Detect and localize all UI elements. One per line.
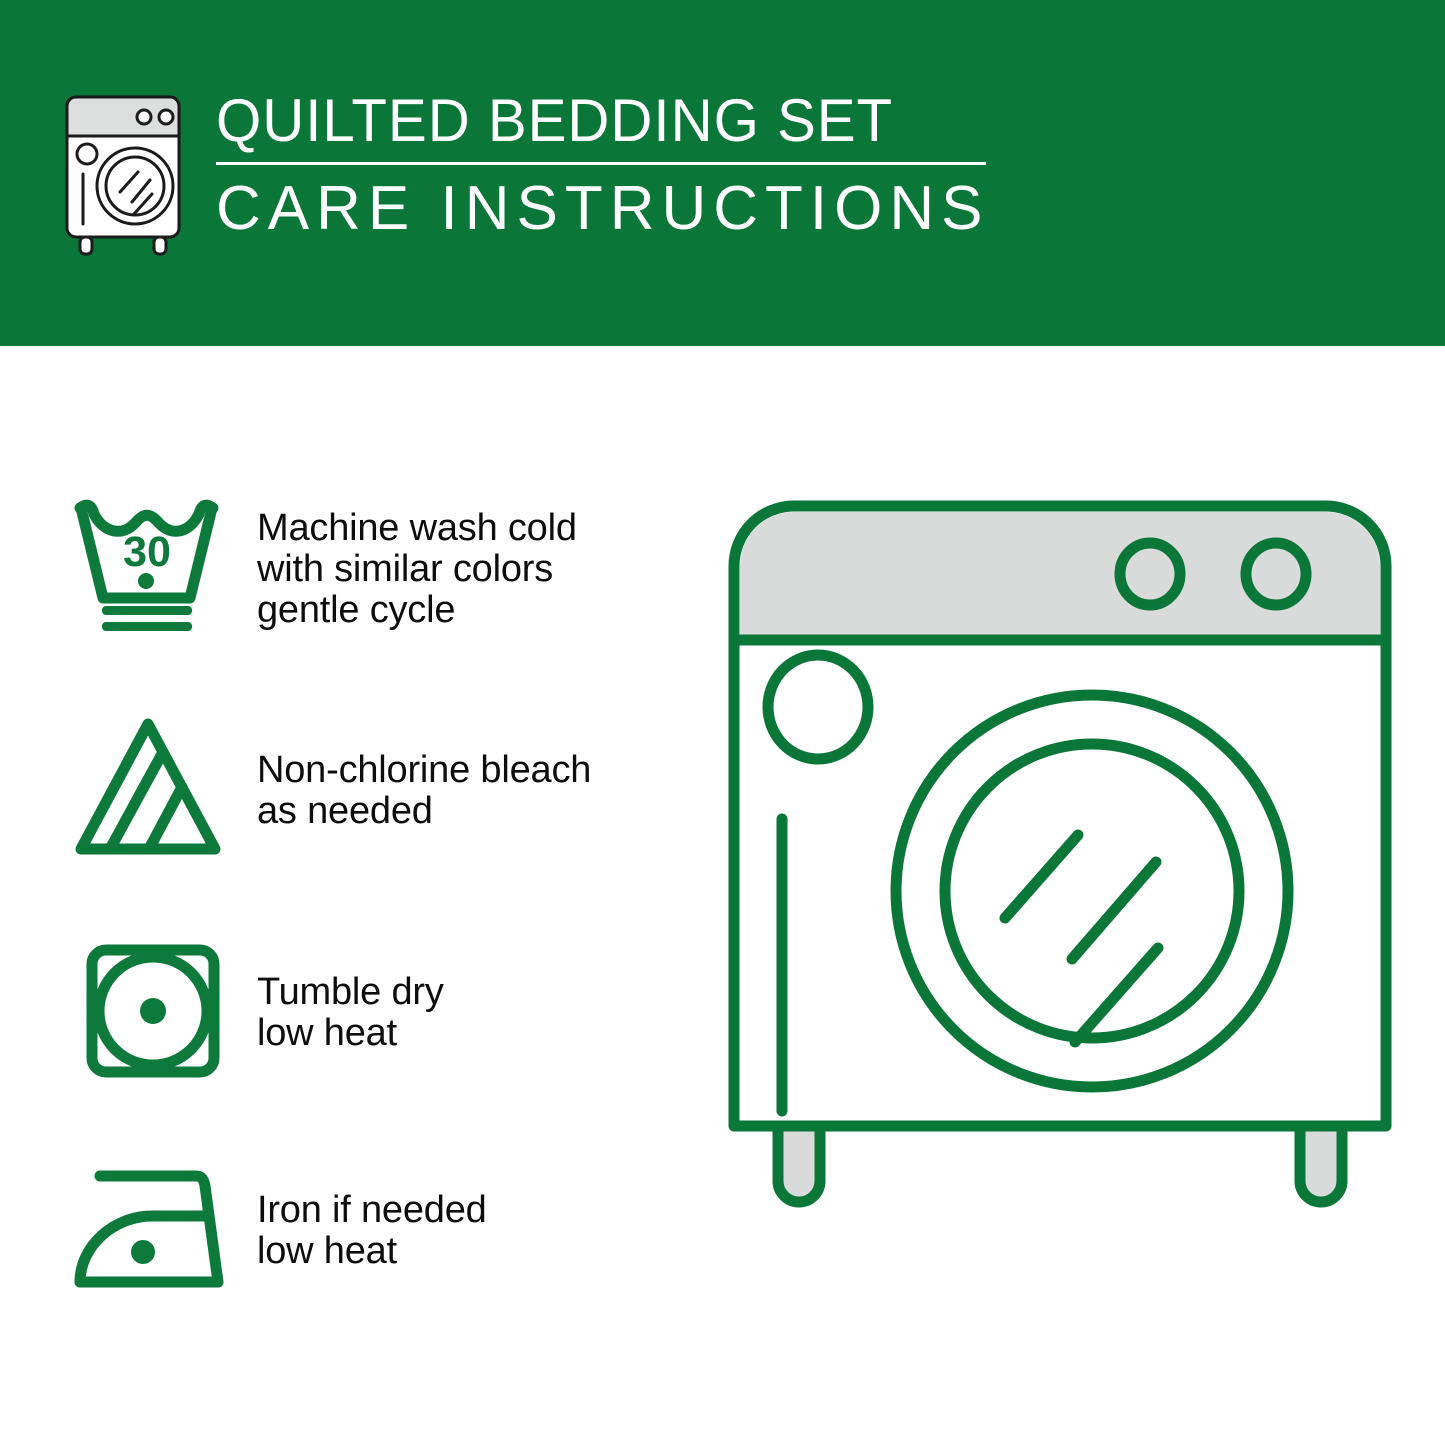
care-row-tumble-dry-text: Tumble dry low heat xyxy=(257,972,444,1054)
care-text-line: as needed xyxy=(257,791,591,832)
care-text-line: Iron if needed xyxy=(257,1190,487,1231)
tumble-dry-icon xyxy=(70,936,235,1086)
washing-machine-illustration xyxy=(700,466,1420,1366)
iron-dot-icon xyxy=(131,1240,155,1264)
machine-leg-left xyxy=(778,1126,820,1202)
care-row-machine-wash-text: Machine wash cold with similar colors ge… xyxy=(257,508,577,631)
bleach-triangle-icon xyxy=(70,714,235,864)
machine-indicator-light xyxy=(768,655,868,759)
header-title-block: QUILTED BEDDING SET CARE INSTRUCTIONS xyxy=(216,88,989,243)
care-text-line: low heat xyxy=(257,1013,444,1054)
care-text-line: gentle cycle xyxy=(257,590,577,631)
page-subtitle: CARE INSTRUCTIONS xyxy=(216,175,989,243)
care-row-bleach-text: Non-chlorine bleach as needed xyxy=(257,750,591,832)
washing-machine-icon xyxy=(62,92,194,258)
care-row-tumble-dry: Tumble dry low heat xyxy=(70,936,690,1086)
iron-icon xyxy=(70,1154,235,1304)
care-row-iron: Iron if needed low heat xyxy=(70,1154,690,1304)
care-text-line: Machine wash cold xyxy=(257,508,577,549)
care-row-bleach: Non-chlorine bleach as needed xyxy=(70,714,690,864)
machine-knob-left xyxy=(1120,543,1180,605)
tumble-dry-dot-icon xyxy=(140,998,166,1024)
care-text-line: Tumble dry xyxy=(257,972,444,1013)
care-text-line: with similar colors xyxy=(257,549,577,590)
care-text-line: low heat xyxy=(257,1231,487,1272)
wash-temperature-label: 30 xyxy=(123,528,171,576)
care-row-iron-text: Iron if needed low heat xyxy=(257,1190,487,1272)
care-row-machine-wash: 30 Machine wash cold with similar colors… xyxy=(70,494,690,644)
care-text-line: Non-chlorine bleach xyxy=(257,750,591,791)
wash-dot-icon xyxy=(138,573,154,589)
wash-tub-30-icon: 30 xyxy=(70,494,235,644)
care-instruction-list: 30 Machine wash cold with similar colors… xyxy=(0,346,700,1445)
header-content: QUILTED BEDDING SET CARE INSTRUCTIONS xyxy=(62,88,989,258)
machine-door-inner xyxy=(945,744,1239,1038)
page-title: QUILTED BEDDING SET xyxy=(216,88,966,154)
machine-knob-right xyxy=(1246,543,1306,605)
care-instructions-page: QUILTED BEDDING SET CARE INSTRUCTIONS 30 xyxy=(0,0,1445,1445)
title-divider xyxy=(216,162,986,165)
machine-leg-right xyxy=(1300,1126,1342,1202)
header-band: QUILTED BEDDING SET CARE INSTRUCTIONS xyxy=(0,0,1445,346)
